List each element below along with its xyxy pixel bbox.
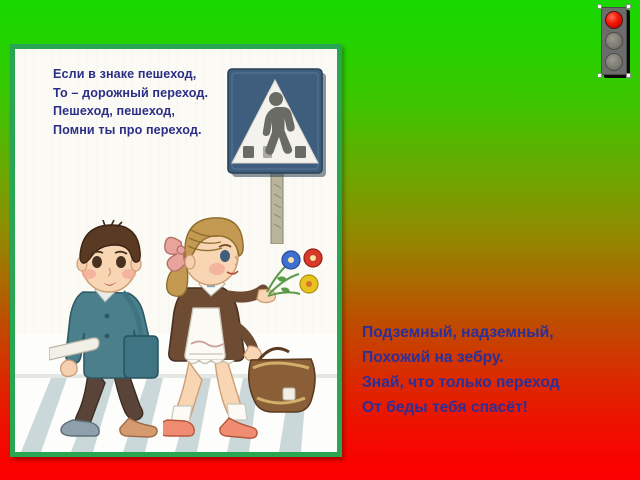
illustration-canvas: Если в знаке пешеход, То – дорожный пере… [15,49,337,452]
selection-handle-bottom-right[interactable] [626,73,631,78]
slide-verse-line-1: Подземный, надземный, [362,320,640,345]
traffic-light-object[interactable] [597,4,631,78]
picture-verse-line-1: Если в знаке пешеход, [53,65,268,84]
picture-verse-line-3: Пешеход, пешеход, [53,102,268,121]
slide-verse-line-2: Похожий на зебру. [362,345,640,370]
slide-verse[interactable]: Подземный, надземный, Похожий на зебру. … [362,320,640,420]
red-lamp [605,11,623,29]
schoolboy-figure [49,220,177,450]
picture-verse: Если в знаке пешеход, То – дорожный пере… [53,65,268,139]
yellow-lamp [605,32,623,50]
green-lamp [605,53,623,71]
picture-verse-line-2: То – дорожный переход. [53,84,268,103]
slide-canvas: Если в знаке пешеход, То – дорожный пере… [0,0,640,480]
selection-handle-bottom-left[interactable] [597,73,602,78]
slide-verse-line-4: От беды тебя спасёт! [362,395,640,420]
schoolgirl-figure [163,212,323,450]
traffic-light-icon[interactable] [601,7,627,75]
slide-verse-line-3: Знай, что только переход [362,370,640,395]
selection-handle-top-left[interactable] [597,4,602,9]
selection-handle-top-right[interactable] [626,4,631,9]
illustration-picture[interactable]: Если в знаке пешеход, То – дорожный пере… [10,44,342,457]
picture-verse-line-4: Помни ты про переход. [53,121,268,140]
